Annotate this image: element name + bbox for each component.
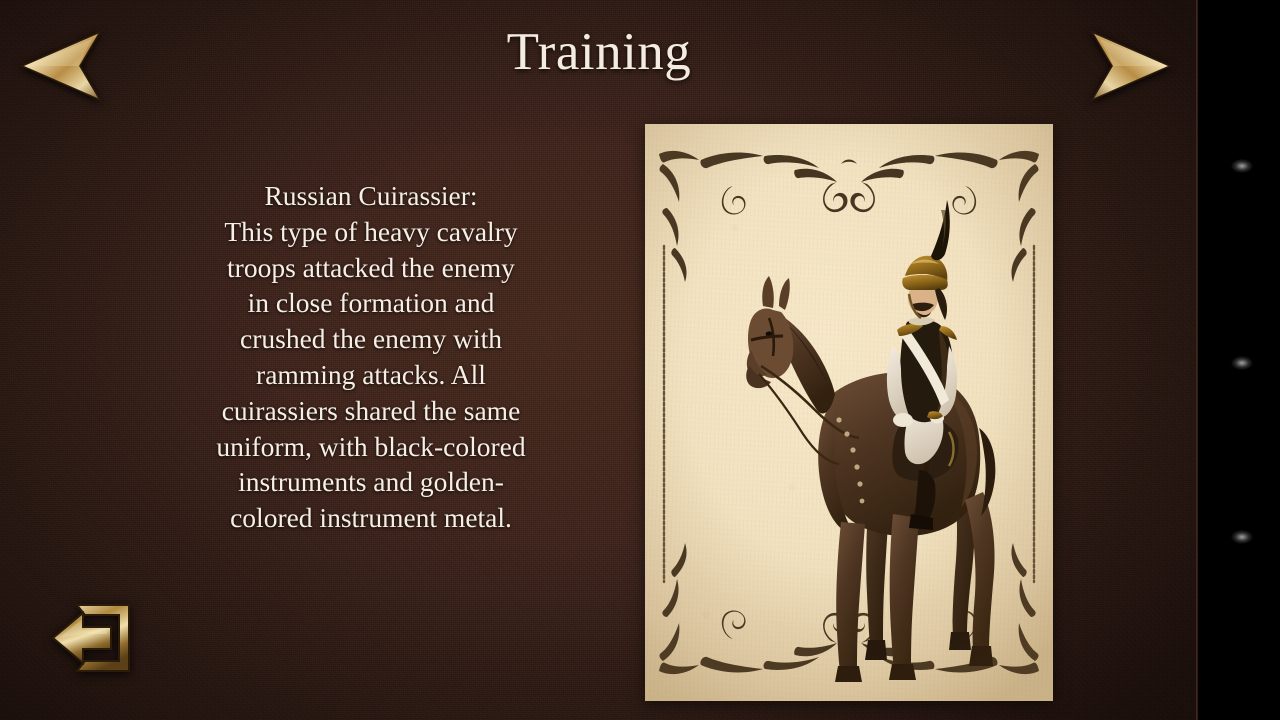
panel-indicator-dot[interactable] xyxy=(1231,356,1253,370)
desc-line: crushed the enemy with xyxy=(182,321,560,357)
training-screen: Training xyxy=(0,0,1280,720)
right-side-panel xyxy=(1198,0,1280,720)
panel-indicator-dot[interactable] xyxy=(1231,159,1253,173)
desc-line: ramming attacks. All xyxy=(182,357,560,393)
back-exit-icon xyxy=(49,589,147,687)
arrow-left-icon xyxy=(18,28,104,104)
panel-indicator-dot[interactable] xyxy=(1231,530,1253,544)
desc-line: colored instrument metal. xyxy=(182,500,560,536)
page-title: Training xyxy=(0,26,1198,79)
desc-line: cuirassiers shared the same xyxy=(182,393,560,429)
desc-line: This type of heavy cavalry xyxy=(182,214,560,250)
desc-line: in close formation and xyxy=(182,285,560,321)
previous-button[interactable] xyxy=(18,28,104,104)
desc-line: uniform, with black-colored xyxy=(182,429,560,465)
desc-line: Russian Cuirassier: xyxy=(182,178,560,214)
back-button[interactable] xyxy=(49,589,147,687)
desc-line: troops attacked the enemy xyxy=(182,250,560,286)
unit-illustration-card: Cuirassier xyxy=(645,124,1053,701)
unit-description: Russian Cuirassier: This type of heavy c… xyxy=(182,178,560,536)
parchment-shading xyxy=(645,124,1053,701)
desc-line: instruments and golden- xyxy=(182,464,560,500)
arrow-right-icon xyxy=(1088,28,1174,104)
next-button[interactable] xyxy=(1088,28,1174,104)
